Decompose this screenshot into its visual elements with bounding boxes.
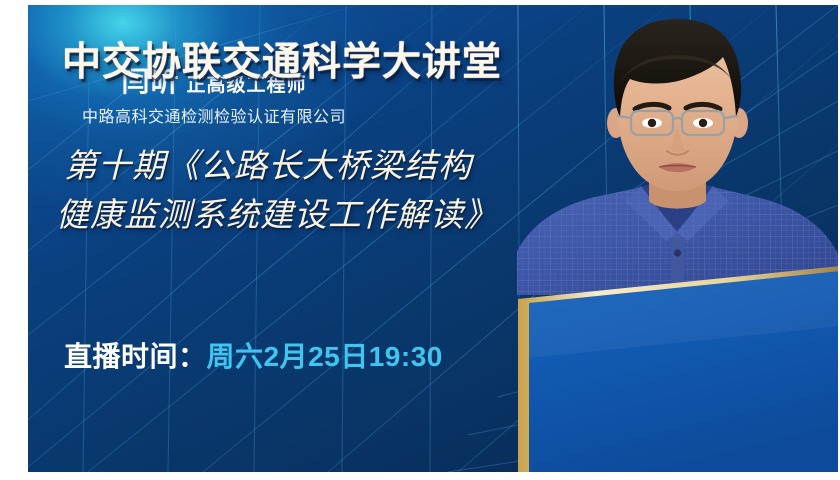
poster-root: 中交协联交通科学大讲堂 第十期《公路长大桥梁结构 健康监测系统建设工作解读》 直…: [0, 0, 840, 480]
episode-subtitle-line-1: 第十期《公路长大桥梁结构: [64, 141, 498, 190]
portrait-illustration: [517, 5, 838, 295]
speaker-portrait-photo: [517, 5, 838, 295]
live-time-value: 周六2月25日19:30: [207, 341, 443, 372]
speaker-info-card: [498, 263, 838, 472]
episode-subtitle: 第十期《公路长大桥梁结构 健康监测系统建设工作解读》: [64, 141, 498, 239]
page-title: 中交协联交通科学大讲堂: [62, 31, 502, 87]
live-time-row: 直播时间：周六2月25日19:30: [64, 335, 443, 375]
episode-subtitle-line-2: 健康监测系统建设工作解读》: [56, 190, 498, 239]
poster-canvas: 中交协联交通科学大讲堂 第十期《公路长大桥梁结构 健康监测系统建设工作解读》 直…: [28, 5, 838, 472]
live-time-label: 直播时间：: [64, 341, 207, 372]
speaker-organization: 中路高科交通检测检验认证有限公司: [28, 103, 400, 127]
